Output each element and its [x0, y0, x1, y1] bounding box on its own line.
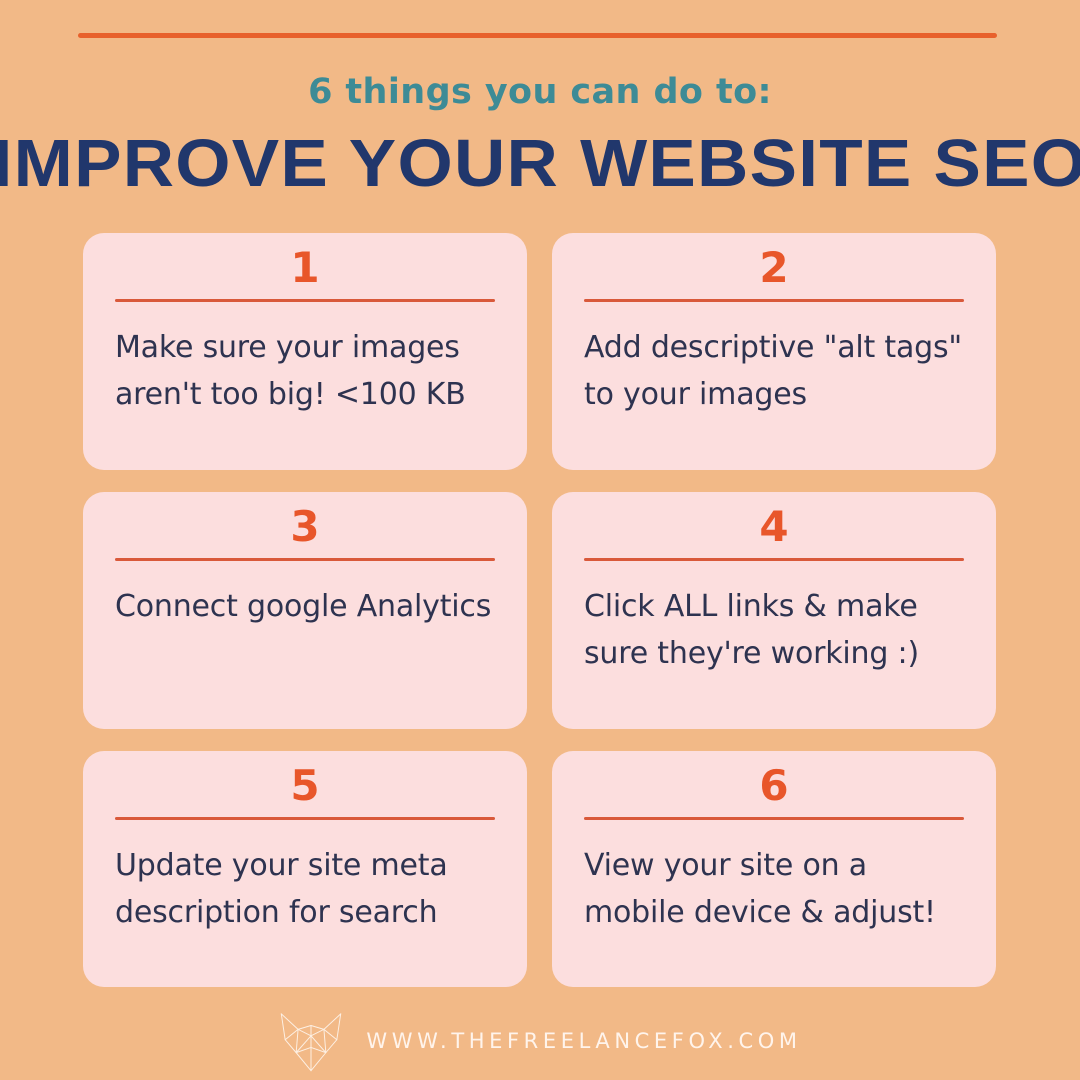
- tip-number-2: 2: [584, 243, 964, 293]
- tip-divider-5: [115, 817, 495, 820]
- fox-head-logo-icon: [278, 1010, 344, 1072]
- poster-footer: WWW.THEFREELANCEFOX.COM: [0, 1006, 1080, 1076]
- tip-card-6: 6 View your site on a mobile device & ad…: [552, 751, 996, 987]
- tip-divider-3: [115, 558, 495, 561]
- tip-number-3: 3: [115, 502, 495, 552]
- tip-text-3: Connect google Analytics: [115, 583, 495, 630]
- tip-text-2: Add descriptive "alt tags" to your image…: [584, 324, 964, 419]
- tip-number-5: 5: [115, 761, 495, 811]
- tip-text-6: View your site on a mobile device & adju…: [584, 842, 964, 937]
- tip-card-5: 5 Update your site meta description for …: [83, 751, 527, 987]
- tip-number-6: 6: [584, 761, 964, 811]
- page-title: IMPROVE YOUR WEBSITE SEO: [0, 129, 1080, 199]
- tip-number-1: 1: [115, 243, 495, 293]
- seo-infographic-poster: 6 things you can do to: IMPROVE YOUR WEB…: [0, 0, 1080, 1080]
- tip-text-4: Click ALL links & make sure they're work…: [584, 583, 964, 678]
- tip-card-3: 3 Connect google Analytics: [83, 492, 527, 729]
- tip-divider-4: [584, 558, 964, 561]
- tip-card-4: 4 Click ALL links & make sure they're wo…: [552, 492, 996, 729]
- poster-header: 6 things you can do to: IMPROVE YOUR WEB…: [0, 72, 1080, 200]
- tips-grid: 1 Make sure your images aren't too big! …: [83, 233, 996, 987]
- tip-card-1: 1 Make sure your images aren't too big! …: [83, 233, 527, 470]
- tip-number-4: 4: [584, 502, 964, 552]
- tip-text-1: Make sure your images aren't too big! <1…: [115, 324, 495, 419]
- tip-divider-6: [584, 817, 964, 820]
- tip-divider-1: [115, 299, 495, 302]
- tip-divider-2: [584, 299, 964, 302]
- tip-text-5: Update your site meta description for se…: [115, 842, 495, 937]
- header-subtitle: 6 things you can do to:: [0, 72, 1080, 112]
- tip-card-2: 2 Add descriptive "alt tags" to your ima…: [552, 233, 996, 470]
- top-divider-rule: [78, 33, 997, 38]
- footer-website-url: WWW.THEFREELANCEFOX.COM: [366, 1029, 801, 1053]
